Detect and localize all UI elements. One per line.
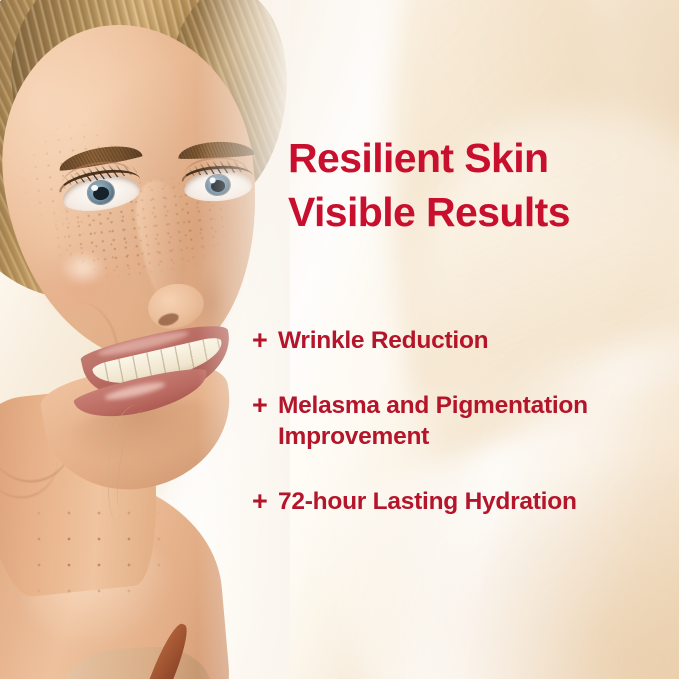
plus-icon: +: [252, 486, 278, 517]
shoulder-freckles: [24, 500, 174, 610]
benefit-item-hydration: + 72-hour Lasting Hydration: [252, 486, 672, 517]
plus-icon: +: [252, 390, 278, 421]
cheek-highlight: [60, 250, 106, 286]
skincare-ad-banner: Resilient Skin Visible Results + Wrinkle…: [0, 0, 679, 679]
benefit-item-melasma-pigmentation: + Melasma and Pigmentation Improvement: [252, 390, 672, 452]
headline-line-1: Resilient Skin: [288, 131, 679, 185]
headline: Resilient Skin Visible Results: [288, 131, 679, 239]
ad-copy-block: Resilient Skin Visible Results + Wrinkle…: [288, 0, 679, 679]
eye-right: [183, 168, 253, 204]
benefit-label: Melasma and Pigmentation Improvement: [278, 390, 634, 452]
benefit-label: 72-hour Lasting Hydration: [278, 486, 634, 517]
benefit-item-wrinkle-reduction: + Wrinkle Reduction: [252, 325, 672, 356]
model-portrait-photo: [0, 0, 290, 679]
headline-line-2: Visible Results: [288, 185, 679, 239]
benefits-list: + Wrinkle Reduction + Melasma and Pigmen…: [252, 325, 672, 517]
benefit-label: Wrinkle Reduction: [278, 325, 634, 356]
plus-icon: +: [252, 325, 278, 356]
